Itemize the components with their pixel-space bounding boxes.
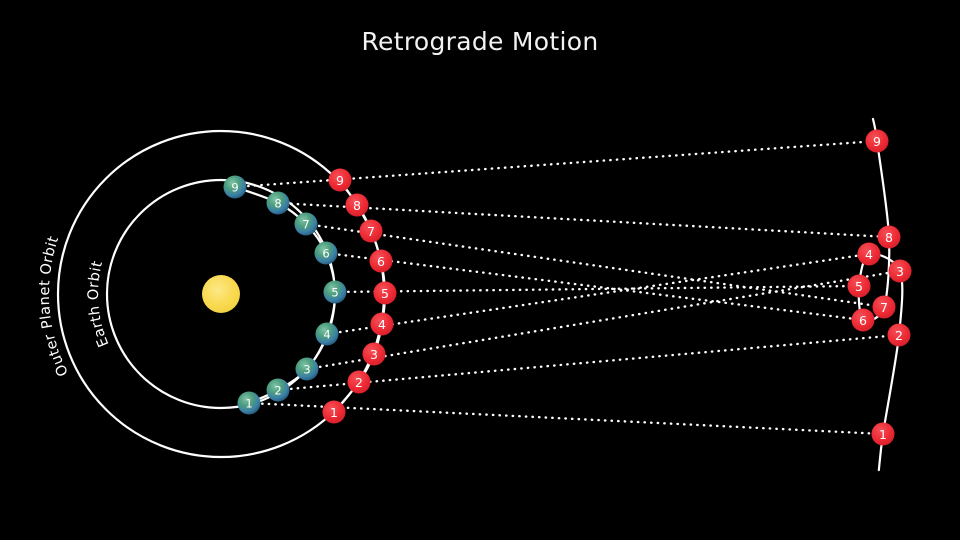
planet-marker-9[interactable]: 9 <box>329 169 352 192</box>
earth-track <box>235 187 335 403</box>
earth-marker-label-3: 3 <box>303 363 310 377</box>
planet-marker-6[interactable]: 6 <box>370 250 393 273</box>
earth-marker-6[interactable]: 6 <box>315 242 338 265</box>
planet-marker-label-7: 7 <box>367 224 375 239</box>
apparent-marker-2[interactable]: 2 <box>888 324 911 347</box>
apparent-marker-7[interactable]: 7 <box>873 296 896 319</box>
apparent-marker-label-5: 5 <box>855 279 863 294</box>
apparent-marker-3[interactable]: 3 <box>889 260 912 283</box>
earth-marker-label-7: 7 <box>302 218 309 232</box>
planet-marker-label-4: 4 <box>378 317 386 332</box>
earth-marker-8[interactable]: 8 <box>267 192 290 215</box>
earth-marker-label-8: 8 <box>274 197 281 211</box>
earth-marker-3[interactable]: 3 <box>296 358 319 381</box>
outer-planet-orbit-label-text: Outer Planet Orbit <box>37 234 72 378</box>
earth-marker-label-6: 6 <box>322 247 329 261</box>
earth-markers-group: 123456789 <box>224 176 347 415</box>
apparent-marker-label-3: 3 <box>896 264 904 279</box>
planet-marker-label-8: 8 <box>353 198 361 213</box>
page-title: Retrograde Motion <box>362 27 599 56</box>
earth-marker-label-9: 9 <box>231 181 238 195</box>
earth-marker-label-2: 2 <box>274 384 281 398</box>
apparent-marker-label-7: 7 <box>880 300 888 315</box>
apparent-marker-label-6: 6 <box>859 313 867 328</box>
apparent-marker-1[interactable]: 1 <box>872 423 895 446</box>
earth-marker-5[interactable]: 5 <box>324 281 347 304</box>
apparent-marker-9[interactable]: 9 <box>866 130 889 153</box>
apparent-marker-label-4: 4 <box>865 247 873 262</box>
sight-line-6 <box>326 253 863 320</box>
earth-marker-9[interactable]: 9 <box>224 176 247 199</box>
earth-marker-7[interactable]: 7 <box>295 213 318 236</box>
planet-marker-7[interactable]: 7 <box>360 220 383 243</box>
planet-marker-3[interactable]: 3 <box>363 343 386 366</box>
planet-marker-label-5: 5 <box>381 286 389 301</box>
planet-marker-5[interactable]: 5 <box>374 282 397 305</box>
outer-planet-orbit-label: Outer Planet Orbit <box>37 234 72 378</box>
planet-marker-2[interactable]: 2 <box>348 371 371 394</box>
apparent-marker-4[interactable]: 4 <box>858 243 881 266</box>
earth-marker-1[interactable]: 1 <box>238 392 261 415</box>
apparent-marker-label-8: 8 <box>885 230 893 245</box>
retrograde-motion-figure: Retrograde Motion Outer Planet Orbit Ear… <box>0 0 960 540</box>
planet-marker-label-6: 6 <box>377 254 385 269</box>
planet-marker-label-2: 2 <box>355 375 363 390</box>
apparent-marker-label-1: 1 <box>879 427 887 442</box>
earth-marker-4[interactable]: 4 <box>316 323 339 346</box>
planet-marker-label-9: 9 <box>336 173 344 188</box>
planet-marker-label-3: 3 <box>370 347 378 362</box>
earth-marker-label-5: 5 <box>331 286 338 300</box>
earth-marker-label-1: 1 <box>245 397 252 411</box>
apparent-marker-label-9: 9 <box>873 134 881 149</box>
sight-line-4 <box>327 254 869 334</box>
planet-marker-4[interactable]: 4 <box>371 313 394 336</box>
sight-line-5 <box>335 286 859 292</box>
apparent-marker-8[interactable]: 8 <box>878 226 901 249</box>
apparent-marker-label-2: 2 <box>895 328 903 343</box>
earth-marker-2[interactable]: 2 <box>267 379 290 402</box>
apparent-marker-6[interactable]: 6 <box>852 309 875 332</box>
diagram-canvas: Retrograde Motion Outer Planet Orbit Ear… <box>0 0 960 540</box>
planet-marker-8[interactable]: 8 <box>346 194 369 217</box>
earth-marker-label-4: 4 <box>323 328 330 342</box>
earth-track-line <box>235 187 335 403</box>
planet-marker-1[interactable]: 1 <box>323 401 346 424</box>
apparent-marker-5[interactable]: 5 <box>848 275 871 298</box>
planet-marker-label-1: 1 <box>330 405 338 420</box>
sun-icon <box>202 275 240 313</box>
